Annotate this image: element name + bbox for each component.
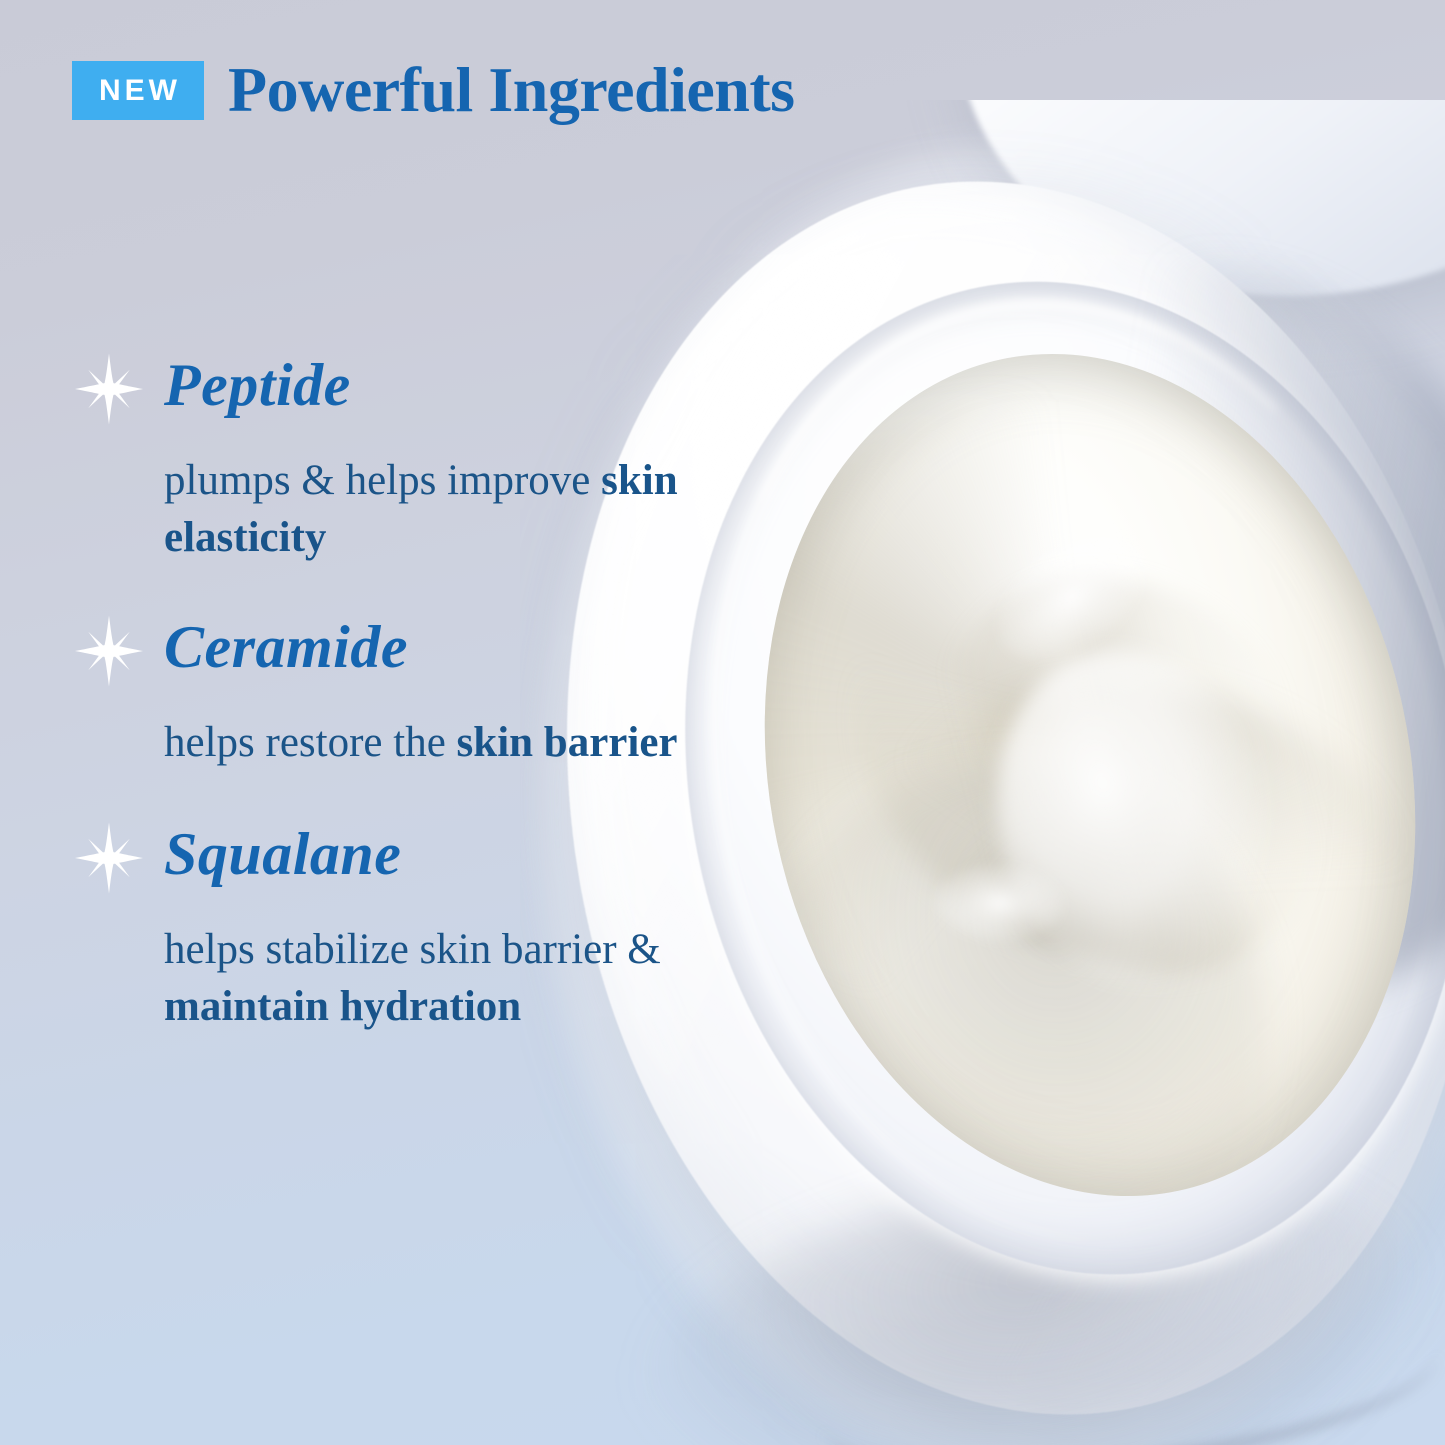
ingredient-description-lead: helps stabilize skin barrier & (164, 926, 661, 973)
sparkle-icon (72, 821, 146, 895)
ingredient-item: Squalane helps stabilize skin barrier & … (72, 817, 712, 1035)
ingredient-item: Ceramide helps restore the skin barrier (72, 610, 712, 771)
ingredient-description: plumps & helps improve skin elasticity (164, 452, 684, 566)
ingredient-list: Peptide plumps & helps improve skin elas… (72, 348, 712, 1035)
page-title: Powerful Ingredients (228, 58, 795, 122)
new-badge: NEW (72, 61, 204, 120)
ingredient-name: Peptide (164, 348, 351, 422)
sparkle-icon (72, 352, 146, 426)
content-layer: NEW Powerful Ingredients P (0, 0, 1445, 1445)
sparkle-icon (72, 614, 146, 688)
ingredient-name: Squalane (164, 817, 401, 891)
ingredient-description: helps restore the skin barrier (164, 714, 684, 771)
header: NEW Powerful Ingredients (72, 58, 795, 122)
ingredient-description-lead: plumps & helps improve (164, 457, 601, 504)
ingredient-header: Squalane (72, 817, 712, 903)
ingredient-description-emphasis: skin barrier (457, 719, 678, 766)
ingredient-header: Ceramide (72, 610, 712, 696)
ingredient-header: Peptide (72, 348, 712, 434)
ad-creative-canvas: NEW Powerful Ingredients P (0, 0, 1445, 1445)
ingredient-description: helps stabilize skin barrier & maintain … (164, 921, 684, 1035)
ingredient-description-emphasis: maintain hydration (164, 983, 521, 1030)
ingredient-name: Ceramide (164, 610, 408, 684)
ingredient-item: Peptide plumps & helps improve skin elas… (72, 348, 712, 566)
ingredient-description-lead: helps restore the (164, 719, 457, 766)
